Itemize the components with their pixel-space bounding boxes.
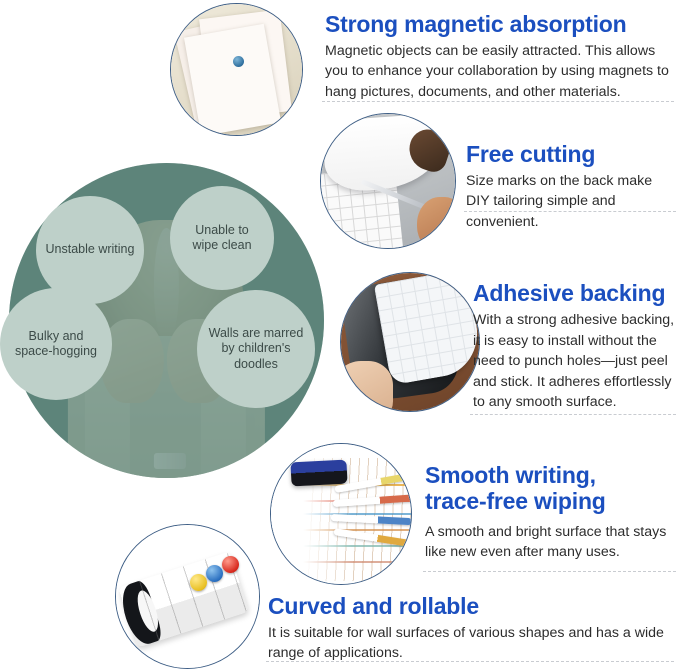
magnetic-sheet-shape xyxy=(184,24,281,136)
pain-bubble-unable-to-wipe-clean: Unable to wipe clean xyxy=(170,186,274,290)
section-divider xyxy=(266,661,674,662)
pain-bubble-walls-marred: Walls are marred by children's doodles xyxy=(197,290,315,408)
feature-adhesive-backing: Adhesive backing With a strong adhesive … xyxy=(473,281,679,412)
feature-title: Free cutting xyxy=(466,142,676,167)
pain-bubble-label: Unable to wipe clean xyxy=(192,223,251,254)
pain-bubble-bulky-space-hogging: Bulky and space-hogging xyxy=(0,288,112,400)
yellow-magnet xyxy=(190,574,207,591)
section-divider xyxy=(464,211,676,212)
feature-title: Smooth writing, trace-free wiping xyxy=(425,463,677,515)
feature-body: A smooth and bright surface that stays l… xyxy=(425,522,677,562)
hand-shape xyxy=(340,361,393,412)
pain-bubble-label: Unstable writing xyxy=(46,242,135,257)
feature-curved-rollable: Curved and rollable It is suitable for w… xyxy=(268,594,674,664)
feature-body: Size marks on the back make DIY tailorin… xyxy=(466,171,676,231)
infographic-canvas: Unstable writing Unable to wipe clean Bu… xyxy=(0,0,679,669)
photo-curved-rollable xyxy=(115,524,260,669)
pain-bubble-label: Bulky and space-hogging xyxy=(15,329,97,360)
section-divider xyxy=(470,414,676,415)
photo-adhesive-backing xyxy=(340,272,480,412)
feature-body: Magnetic objects can be easily attracted… xyxy=(325,41,673,101)
feature-title: Strong magnetic absorption xyxy=(325,12,673,37)
feature-magnetic-absorption: Strong magnetic absorption Magnetic obje… xyxy=(325,12,673,102)
section-divider xyxy=(322,101,674,102)
feature-title: Adhesive backing xyxy=(473,281,679,306)
section-divider xyxy=(423,571,676,572)
blue-magnet xyxy=(206,565,223,582)
whiteboard-eraser-shape xyxy=(290,459,347,486)
hand-shape xyxy=(417,197,456,249)
feature-smooth-writing: Smooth writing, trace-free wiping A smoo… xyxy=(425,463,677,562)
feature-title: Curved and rollable xyxy=(268,594,674,619)
feature-body: With a strong adhesive backing, it is ea… xyxy=(473,310,679,412)
pain-bubble-label: Walls are marred by children's doodles xyxy=(209,326,304,372)
blue-magnet-dot xyxy=(233,56,244,67)
photo-magnetic-absorption xyxy=(170,3,303,136)
photo-free-cutting xyxy=(320,113,456,249)
photo-smooth-writing xyxy=(270,443,412,585)
feature-free-cutting: Free cutting Size marks on the back make… xyxy=(466,142,676,232)
feature-body: It is suitable for wall surfaces of vari… xyxy=(268,623,674,663)
